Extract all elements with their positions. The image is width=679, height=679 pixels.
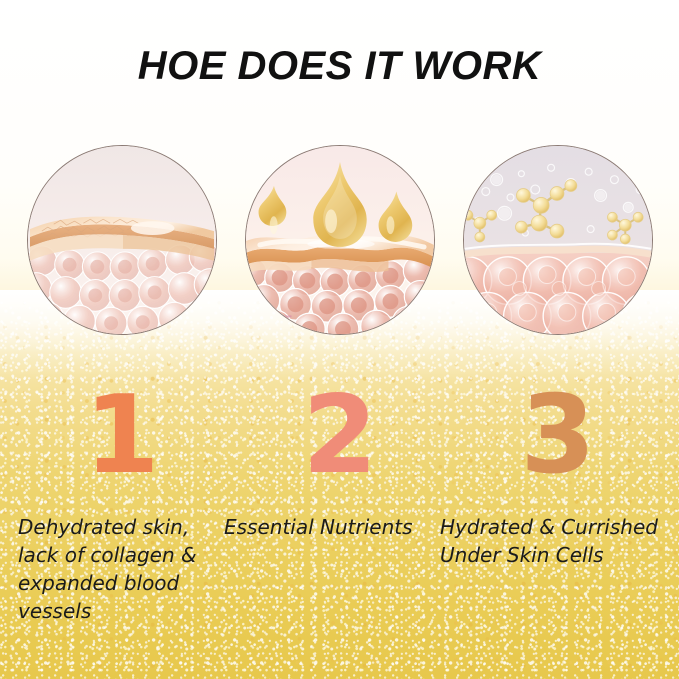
hydrated-skin-molecules-circle	[464, 146, 652, 334]
page-title: HOE DOES IT WORK	[0, 44, 679, 89]
illustration-circle-1	[27, 145, 217, 335]
step-caption-1: Dehydrated skin, lack of collagen & expa…	[18, 513, 223, 625]
step-number-3: 3	[463, 380, 653, 492]
how-it-works-infographic: HOE DOES IT WORK	[0, 0, 679, 679]
step-caption-2: Essential Nutrients	[224, 513, 439, 541]
step-caption-3: Hydrated & Currished Under Skin Cells	[440, 513, 672, 569]
step-number-2: 2	[245, 380, 435, 492]
illustration-row	[0, 145, 679, 345]
step-number-row: 1 2 3	[0, 380, 679, 500]
skin-cross-section-dehydrated-circle	[28, 146, 216, 334]
illustration-circle-3	[463, 145, 653, 335]
step-number-1: 1	[27, 380, 217, 492]
serum-droplets-on-skin-circle	[246, 146, 434, 334]
illustration-circle-2	[245, 145, 435, 335]
step-caption-row: Dehydrated skin, lack of collagen & expa…	[0, 513, 679, 663]
